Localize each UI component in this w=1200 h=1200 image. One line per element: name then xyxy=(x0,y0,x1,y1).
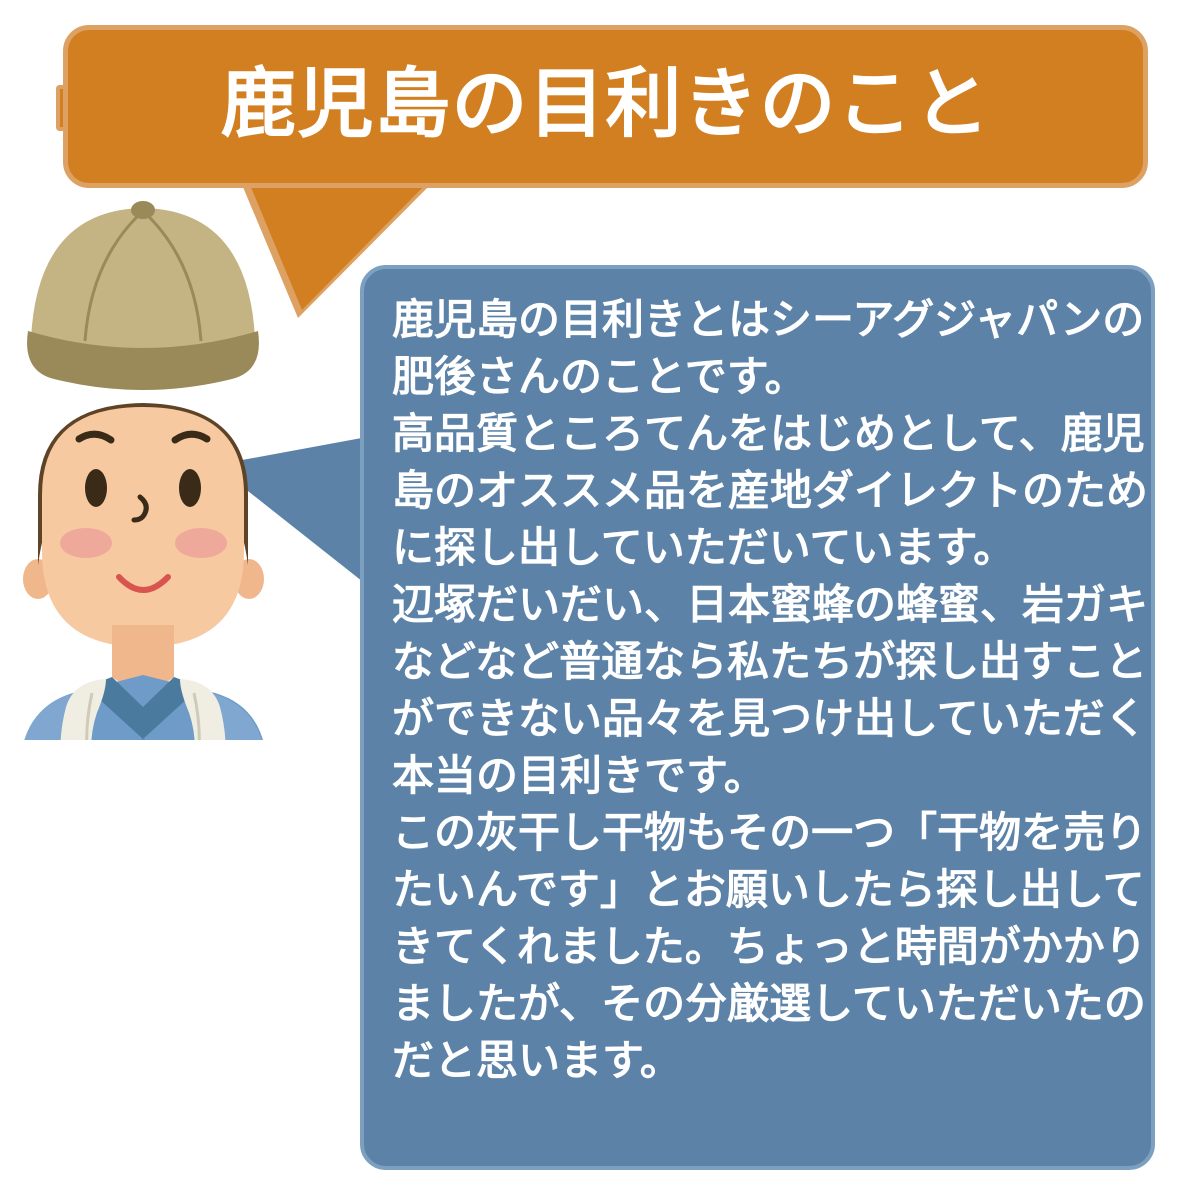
face xyxy=(42,407,244,647)
body-line: などなど普通なら私たちが探し出すこと xyxy=(392,633,1125,690)
eye-left xyxy=(85,469,107,507)
page-title: 鹿児島の目利きのこと xyxy=(221,67,991,143)
body-line: たいんです」とお願いしたら探し出して xyxy=(392,861,1125,918)
body-line: 本当の目利きです。 xyxy=(392,747,1125,804)
blush-right xyxy=(175,528,227,558)
body-line: 島のオススメ品を産地ダイレクトのため xyxy=(392,462,1125,519)
body-line: だと思います。 xyxy=(392,1032,1125,1089)
cap-button xyxy=(131,201,155,219)
eye-right xyxy=(179,469,201,507)
body-line: 高品質ところてんをはじめとして、鹿児 xyxy=(392,405,1125,462)
body-text-bubble: 鹿児島の目利きとはシーアグジャパンの 肥後さんのことです。 高品質ところてんをは… xyxy=(360,265,1155,1170)
character-illustration xyxy=(0,195,300,740)
body-line: 辺塚だいだい、日本蜜蜂の蜂蜜、岩ガキ xyxy=(392,576,1125,633)
illustration-canvas: 鹿児島の目利きのこと 鹿児島の目利きとはシーアグジャパンの 肥後さんのことです。… xyxy=(0,0,1200,1200)
cap-crown xyxy=(31,208,255,362)
body-line: この灰干し干物もその一つ「干物を売り xyxy=(392,804,1125,861)
title-bubble: 鹿児島の目利きのこと xyxy=(63,25,1148,188)
body-line: に探し出していただいています。 xyxy=(392,519,1125,576)
body-line: ができない品々を見つけ出していただく xyxy=(392,690,1125,747)
blush-left xyxy=(60,528,112,558)
body-line: きてくれました。ちょっと時間がかかり xyxy=(392,918,1125,975)
body-line: ましたが、その分厳選していただいたの xyxy=(392,975,1125,1032)
body-line: 肥後さんのことです。 xyxy=(392,348,1125,405)
body-line: 鹿児島の目利きとはシーアグジャパンの xyxy=(392,291,1125,348)
